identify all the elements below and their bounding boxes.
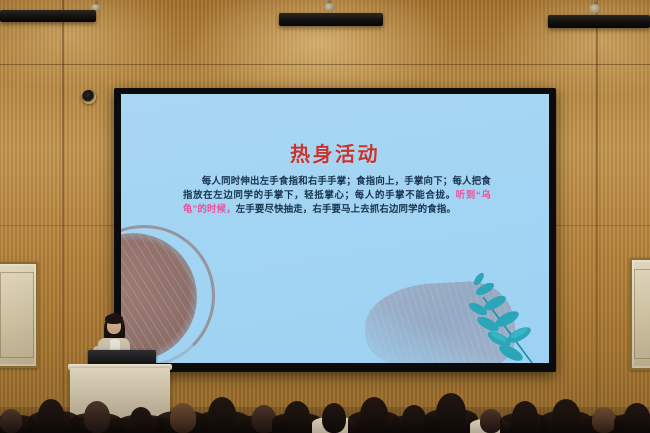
leaf-branch-decoration <box>449 271 541 363</box>
ceiling-light-knob-right <box>589 4 601 14</box>
audience-head <box>208 397 236 433</box>
brush-circle-outline-decoration <box>121 225 215 363</box>
presentation-slide: 热身活动 每人同时伸出左手食指和右手手掌；食指向上，手掌向下；每人把食指放在左边… <box>121 94 549 363</box>
wall-vertical-seam-left <box>62 0 64 433</box>
wall-panel-left <box>0 262 38 368</box>
ceiling-light-right <box>548 15 650 28</box>
wall-vertical-seam-right <box>596 0 598 433</box>
audience-head <box>436 393 466 433</box>
audience-head <box>84 401 110 433</box>
audience-head <box>322 403 346 433</box>
wall-speaker <box>82 90 96 104</box>
audience-head <box>130 407 152 433</box>
slide-body-segment-2: 左手要尽快抽走，右手要马上去抓右边同学的食指。 <box>236 203 456 214</box>
audience-head <box>480 409 502 433</box>
audience-head <box>512 401 538 433</box>
seated-audience <box>0 373 650 433</box>
audience-head <box>360 397 388 433</box>
wall-seam-upper <box>0 64 650 65</box>
wall-panel-right <box>630 258 650 370</box>
slide-title: 热身活动 <box>121 138 549 167</box>
projection-screen: 热身活动 每人同时伸出左手食指和右手手掌；食指向上，手掌向下；每人把食指放在左边… <box>114 88 556 372</box>
ceiling-light-center <box>279 13 383 26</box>
audience-head <box>402 405 426 433</box>
audience-head <box>284 401 310 433</box>
audience-head <box>38 399 64 433</box>
audience-head <box>592 407 616 433</box>
ceiling-light-knob-center <box>324 3 335 12</box>
ceiling-light-left <box>0 10 96 22</box>
slide-body-segment-1: 每人同时伸出左手食指和右手手掌；食指向上，手掌向下；每人把食指放在左边同学的手掌… <box>183 175 491 200</box>
audience-head <box>0 409 22 433</box>
lecture-hall-scene: 热身活动 每人同时伸出左手食指和右手手掌；食指向上，手掌向下；每人把食指放在左边… <box>0 0 650 433</box>
audience-head <box>170 403 196 433</box>
slide-body-text: 每人同时伸出左手食指和右手手掌；食指向上，手掌向下；每人把食指放在左边同学的手掌… <box>183 174 491 217</box>
audience-head <box>624 403 650 433</box>
presenter-fringe <box>105 314 123 324</box>
audience-head <box>552 399 580 433</box>
